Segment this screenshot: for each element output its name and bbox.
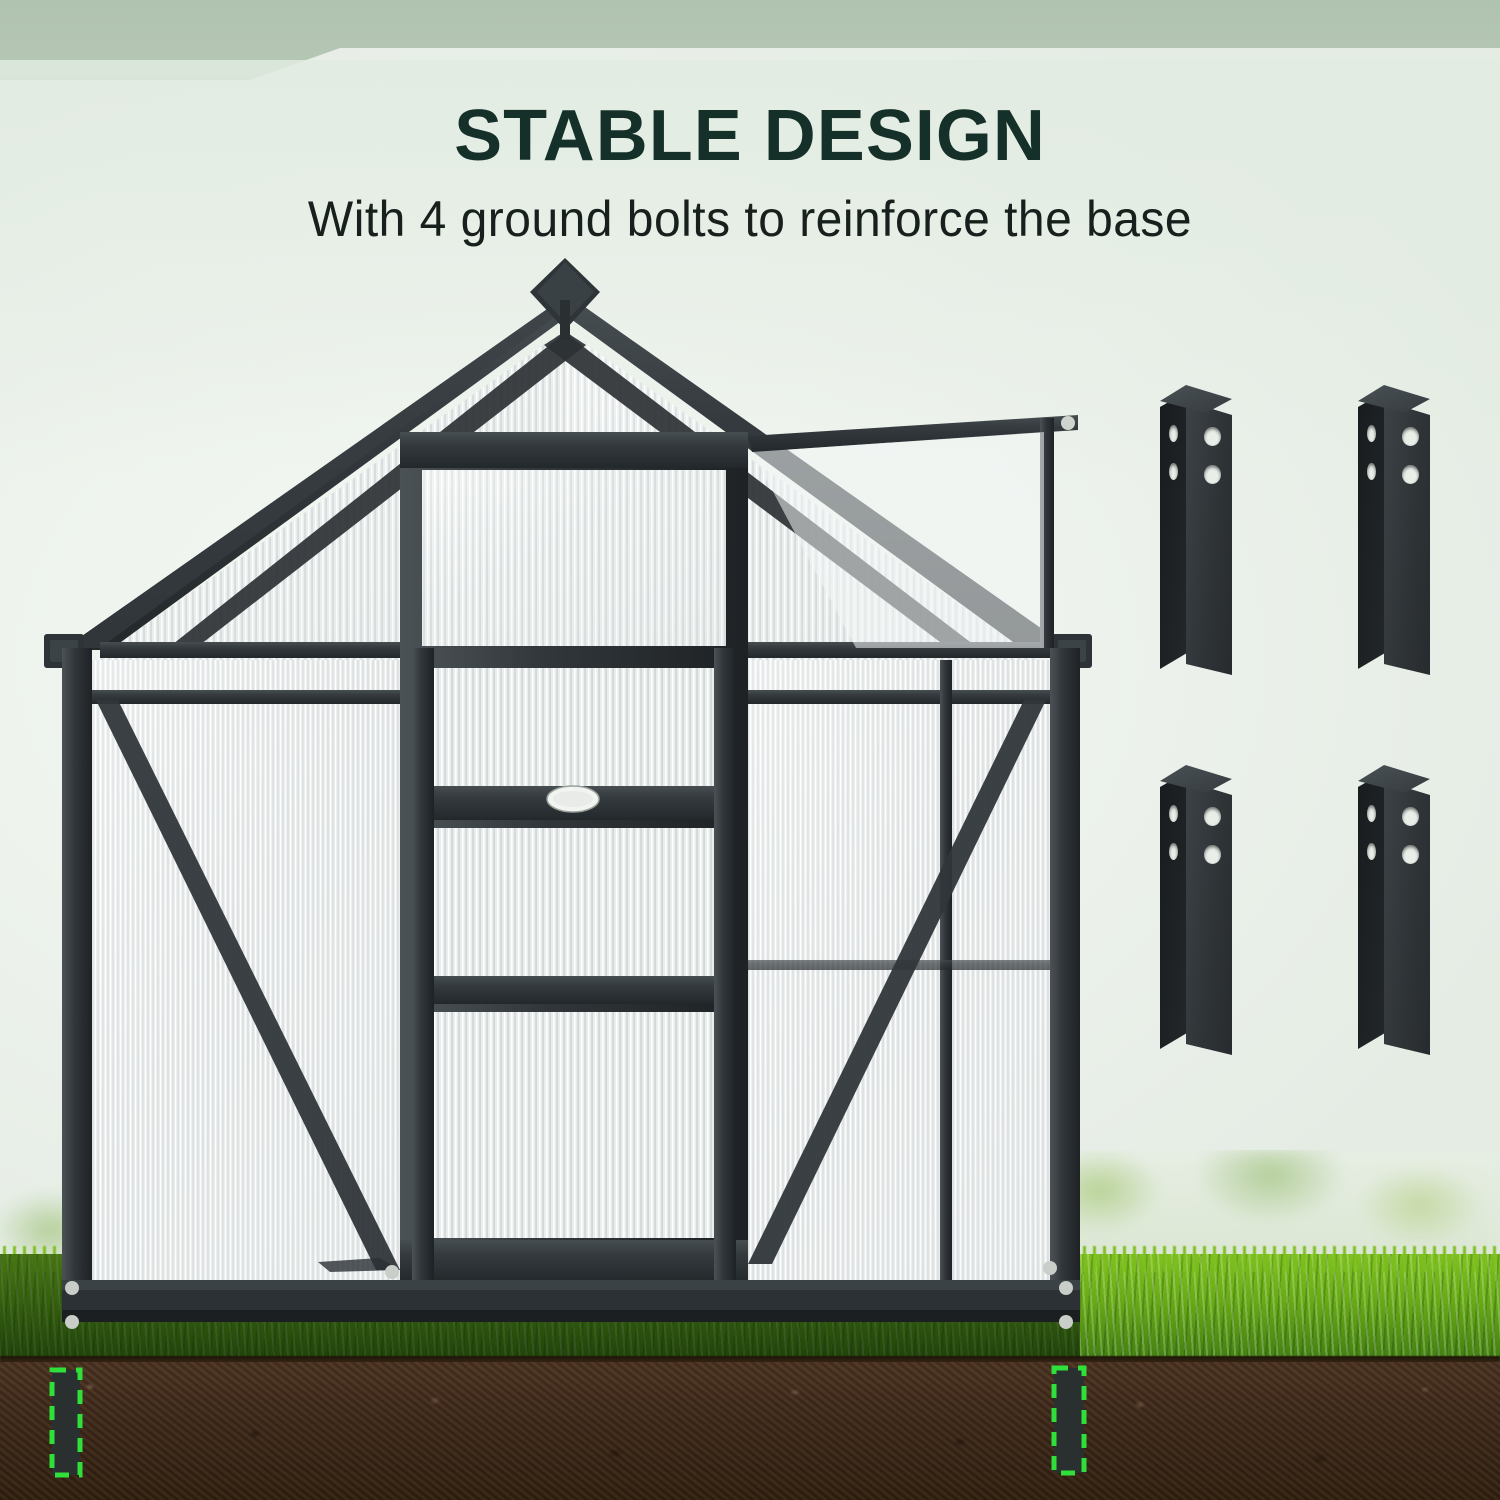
bolt-hole <box>1169 843 1178 860</box>
right-wall <box>742 660 1058 1280</box>
poster-canvas: STABLE DESIGN With 4 ground bolts to rei… <box>0 0 1500 1500</box>
ground-bolt-post-1[interactable] <box>1160 385 1232 675</box>
bolt-hole <box>1169 425 1178 442</box>
ground-bolt-post-4[interactable] <box>1358 765 1430 1055</box>
door-panel-bottom <box>432 1012 716 1238</box>
door-threshold <box>400 1240 748 1282</box>
bolt-hole <box>1367 425 1376 442</box>
bolt-hole <box>1204 427 1221 446</box>
ground-bolt-post-2[interactable] <box>1358 385 1430 675</box>
ground-bolt-post-group <box>1160 385 1460 1100</box>
bolt-hole <box>1367 805 1376 822</box>
corner-post-left <box>62 648 92 1296</box>
bolt-hole <box>1367 463 1376 480</box>
bolt-hole <box>1367 843 1376 860</box>
door-panel-middle <box>432 828 716 976</box>
bolt-hole <box>1402 427 1419 446</box>
buried-anchor-right <box>1054 1368 1084 1473</box>
bolt-hole <box>1402 807 1419 826</box>
bolt-hole <box>1204 845 1221 864</box>
base-plinth-rail <box>62 1280 1080 1322</box>
door-lower-rail <box>412 976 736 1004</box>
door-brand-badge <box>547 786 599 812</box>
corner-post-right <box>1050 648 1080 1296</box>
left-wall <box>88 660 410 1280</box>
front-door[interactable] <box>400 432 748 1296</box>
bolt-hole <box>1402 845 1419 864</box>
bolt-hole <box>1169 805 1178 822</box>
bolt-hole <box>1204 465 1221 484</box>
ground-bolt-post-3[interactable] <box>1160 765 1232 1055</box>
door-panel-top <box>432 668 716 786</box>
bolt-hole <box>1402 465 1419 484</box>
buried-anchor-left <box>52 1370 80 1475</box>
bolt-hole <box>1204 807 1221 826</box>
bolt-hole <box>1169 463 1178 480</box>
